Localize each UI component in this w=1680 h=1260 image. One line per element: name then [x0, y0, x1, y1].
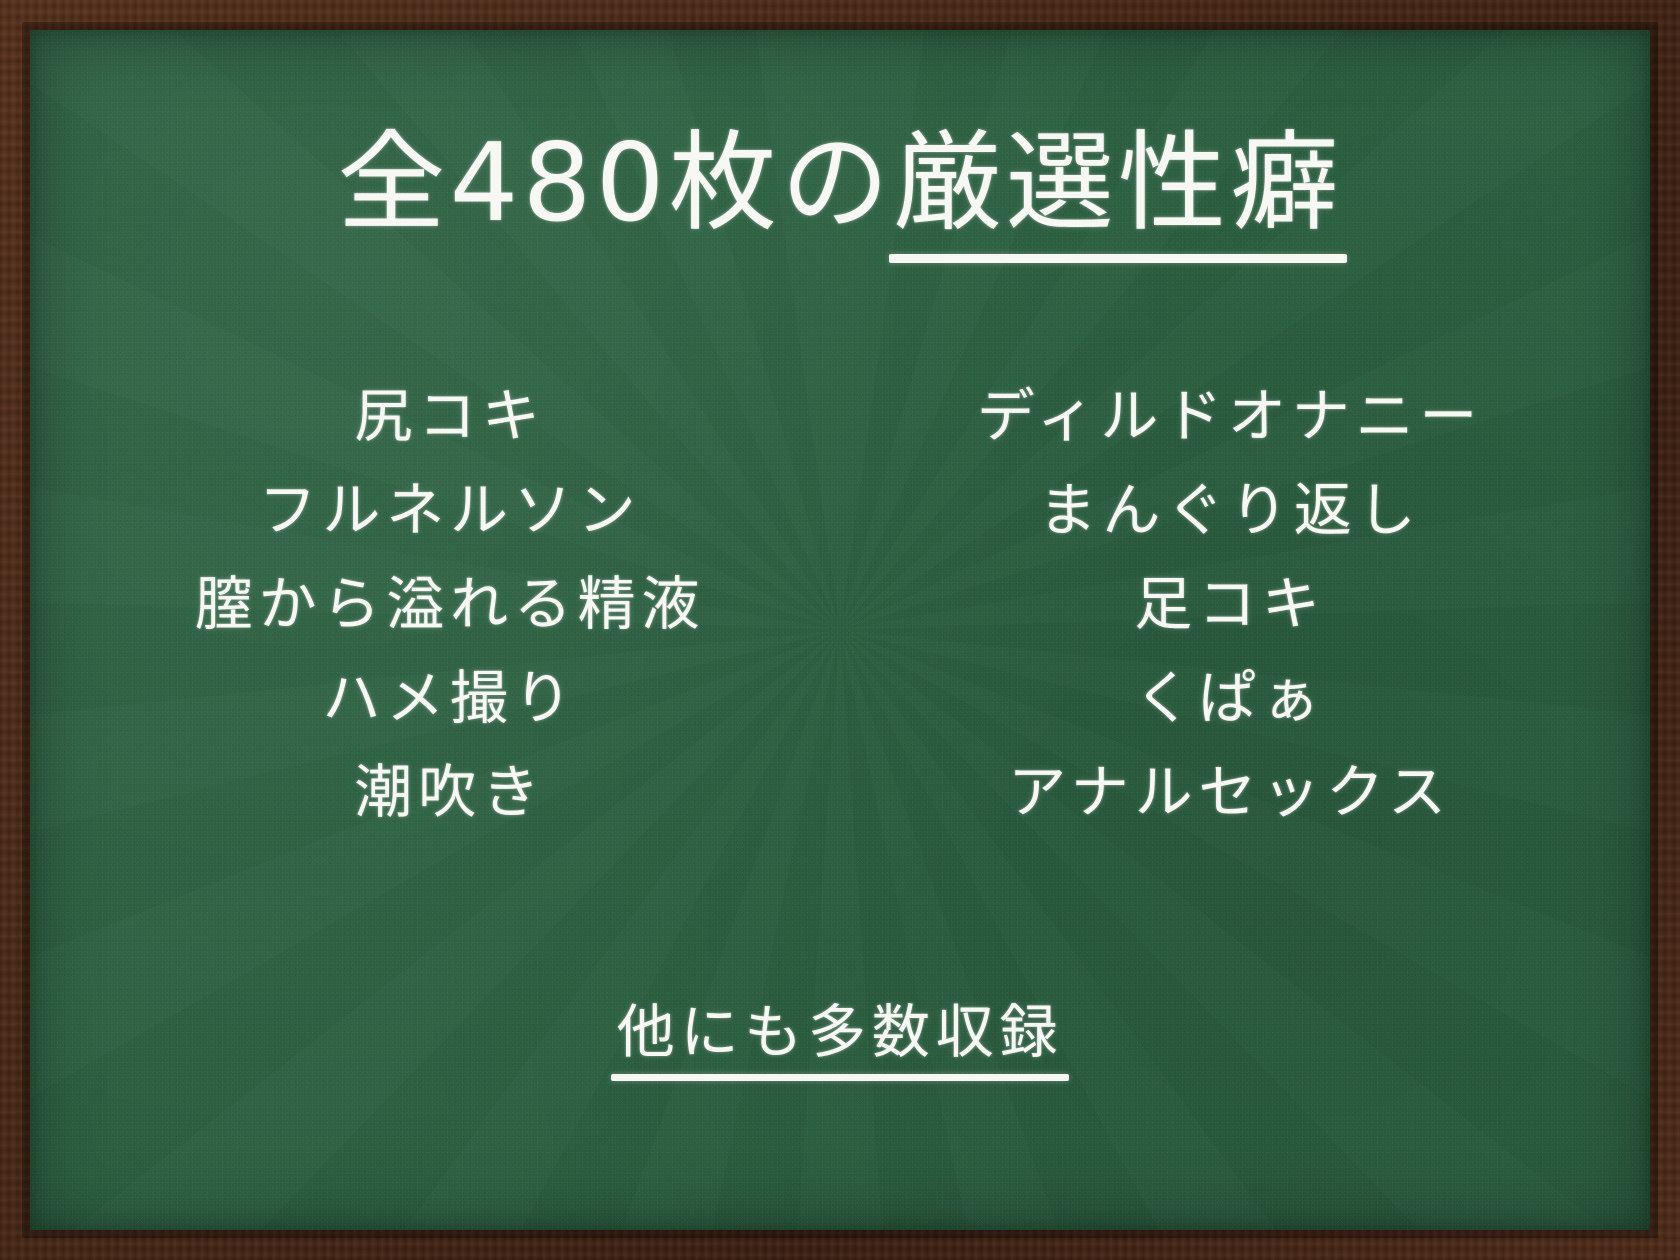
list-item: 足コキ — [1134, 558, 1325, 652]
footer-note-row: 他にも多数収録 — [30, 985, 1650, 1075]
title-underlined-text: 厳選性癖 — [893, 116, 1342, 259]
title-plain-text: 全480枚の — [337, 116, 893, 251]
list-item: ハメ撮り — [322, 652, 577, 746]
list-item: 尻コキ — [354, 370, 545, 464]
list-item: 潮吹き — [354, 746, 545, 840]
fetish-list: 尻コキ フルネルソン 膣から溢れる精液 ハメ撮り 潮吹き ディルドオナニー まん… — [90, 370, 1590, 840]
slide-title: 全480枚の厳選性癖 — [30, 116, 1650, 259]
list-item: ディルドオナニー — [977, 370, 1483, 464]
slide-canvas: 全480枚の厳選性癖 尻コキ フルネルソン 膣から溢れる精液 ハメ撮り 潮吹き … — [0, 0, 1680, 1260]
footer-note: 他にも多数収録 — [617, 985, 1064, 1075]
chalkboard-surface: 全480枚の厳選性癖 尻コキ フルネルソン 膣から溢れる精液 ハメ撮り 潮吹き … — [30, 30, 1650, 1230]
list-item: くぱぁ — [1134, 652, 1325, 746]
list-item: まんぐり返し — [1039, 464, 1422, 558]
list-item: 膣から溢れる精液 — [195, 558, 705, 652]
list-item: フルネルソン — [259, 464, 642, 558]
fetish-list-right-column: ディルドオナニー まんぐり返し 足コキ くぱぁ アナルセックス — [870, 370, 1590, 840]
chalkboard-content: 全480枚の厳選性癖 尻コキ フルネルソン 膣から溢れる精液 ハメ撮り 潮吹き … — [30, 30, 1650, 1230]
list-item: アナルセックス — [1008, 746, 1452, 840]
fetish-list-left-column: 尻コキ フルネルソン 膣から溢れる精液 ハメ撮り 潮吹き — [90, 370, 810, 840]
